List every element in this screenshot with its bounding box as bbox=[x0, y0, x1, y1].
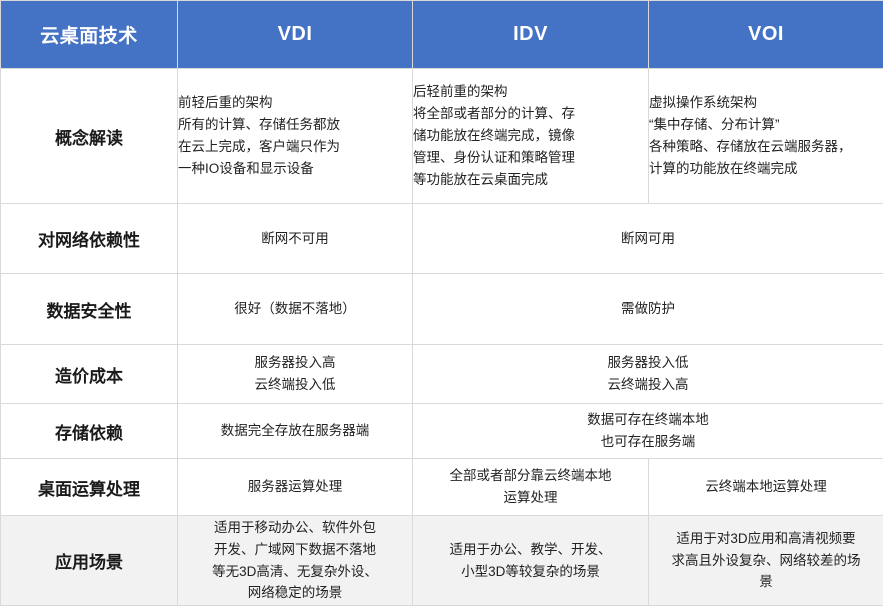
cell-line: 云终端投入高 bbox=[413, 374, 883, 396]
cell-line: “集中存储、分布计算” bbox=[649, 114, 883, 136]
cell-line: 云终端本地运算处理 bbox=[649, 476, 883, 498]
cell-line: 断网可用 bbox=[413, 228, 883, 250]
cell-network-idv-voi-merged: 断网可用 bbox=[413, 204, 883, 274]
cell-compute-vdi: 服务器运算处理 bbox=[178, 459, 413, 516]
cell-line: 云终端投入低 bbox=[178, 374, 412, 396]
cell-network-vdi: 断网不可用 bbox=[178, 204, 413, 274]
row-label-use-cases: 应用场景 bbox=[1, 516, 178, 606]
row-label-concept: 概念解读 bbox=[1, 69, 178, 204]
cell-line: 数据可存在终端本地 bbox=[413, 409, 883, 431]
cell-scenario-idv: 适用于办公、教学、开发、 小型3D等较复杂的场景 bbox=[413, 516, 649, 606]
cell-line: 数据完全存放在服务器端 bbox=[178, 420, 412, 442]
cell-line: 等功能放在云桌面完成 bbox=[413, 169, 648, 191]
cell-compute-voi: 云终端本地运算处理 bbox=[649, 459, 883, 516]
header-row: 云桌面技术 VDI IDV VOI bbox=[1, 1, 883, 69]
cell-line: 小型3D等较复杂的场景 bbox=[413, 561, 648, 583]
table-row: 应用场景 适用于移动办公、软件外包 开发、广域网下数据不落地 等无3D高清、无复… bbox=[1, 516, 883, 606]
cell-line: 很好（数据不落地） bbox=[178, 298, 412, 320]
column-header-idv: IDV bbox=[413, 1, 649, 69]
cell-concept-vdi: 前轻后重的架构 所有的计算、存储任务都放 在云上完成，客户端只作为 一种IO设备… bbox=[178, 69, 413, 204]
row-label-network-dependency: 对网络依赖性 bbox=[1, 204, 178, 274]
cell-cost-idv-voi-merged: 服务器投入低 云终端投入高 bbox=[413, 345, 883, 404]
cell-line: 运算处理 bbox=[413, 487, 648, 509]
cell-line: 求高且外设复杂、网络较差的场 bbox=[649, 550, 883, 572]
cell-line: 服务器投入高 bbox=[178, 352, 412, 374]
cell-line: 后轻前重的架构 bbox=[413, 81, 648, 103]
cell-line: 各种策略、存储放在云端服务器， bbox=[649, 136, 883, 158]
column-header-technology: 云桌面技术 bbox=[1, 1, 178, 69]
cell-scenario-voi: 适用于对3D应用和高清视频要 求高且外设复杂、网络较差的场 景 bbox=[649, 516, 883, 606]
row-label-storage-dependency: 存储依赖 bbox=[1, 404, 178, 459]
cell-line: 断网不可用 bbox=[178, 228, 412, 250]
cell-line: 管理、身份认证和策略管理 bbox=[413, 147, 648, 169]
cell-security-idv-voi-merged: 需做防护 bbox=[413, 274, 883, 345]
column-header-idv-label: IDV bbox=[513, 23, 548, 45]
column-header-technology-label: 云桌面技术 bbox=[40, 26, 138, 47]
cell-scenario-vdi: 适用于移动办公、软件外包 开发、广域网下数据不落地 等无3D高清、无复杂外设、 … bbox=[178, 516, 413, 606]
column-header-voi-label: VOI bbox=[748, 23, 784, 45]
cell-security-vdi: 很好（数据不落地） bbox=[178, 274, 413, 345]
cell-line: 虚拟操作系统架构 bbox=[649, 92, 883, 114]
table-header: 云桌面技术 VDI IDV VOI bbox=[1, 1, 883, 69]
cell-storage-idv-voi-merged: 数据可存在终端本地 也可存在服务端 bbox=[413, 404, 883, 459]
cell-line: 所有的计算、存储任务都放 bbox=[178, 114, 412, 136]
cell-line: 也可存在服务端 bbox=[413, 431, 883, 453]
row-label-desktop-compute: 桌面运算处理 bbox=[1, 459, 178, 516]
cell-line: 适用于办公、教学、开发、 bbox=[413, 539, 648, 561]
cell-line: 计算的功能放在终端完成 bbox=[649, 158, 883, 180]
table-body: 概念解读 前轻后重的架构 所有的计算、存储任务都放 在云上完成，客户端只作为 一… bbox=[1, 69, 883, 606]
cell-line: 等无3D高清、无复杂外设、 bbox=[178, 561, 412, 583]
cell-line: 服务器投入低 bbox=[413, 352, 883, 374]
cell-compute-idv: 全部或者部分靠云终端本地 运算处理 bbox=[413, 459, 649, 516]
column-header-vdi-label: VDI bbox=[278, 23, 313, 45]
cloud-desktop-comparison-table: 云桌面技术 VDI IDV VOI 概念解读 前轻后重的架构 所有的计算、存储任… bbox=[0, 0, 883, 606]
cell-line: 储功能放在终端完成，镜像 bbox=[413, 125, 648, 147]
cell-concept-idv: 后轻前重的架构 将全部或者部分的计算、存 储功能放在终端完成，镜像 管理、身份认… bbox=[413, 69, 649, 204]
table-row: 存储依赖 数据完全存放在服务器端 数据可存在终端本地 也可存在服务端 bbox=[1, 404, 883, 459]
cell-line: 服务器运算处理 bbox=[178, 476, 412, 498]
cell-line: 前轻后重的架构 bbox=[178, 92, 412, 114]
row-label-data-security: 数据安全性 bbox=[1, 274, 178, 345]
cell-cost-vdi: 服务器投入高 云终端投入低 bbox=[178, 345, 413, 404]
table-row: 对网络依赖性 断网不可用 断网可用 bbox=[1, 204, 883, 274]
cell-line: 适用于移动办公、软件外包 bbox=[178, 517, 412, 539]
cell-storage-vdi: 数据完全存放在服务器端 bbox=[178, 404, 413, 459]
cell-line: 在云上完成，客户端只作为 bbox=[178, 136, 412, 158]
table-row: 数据安全性 很好（数据不落地） 需做防护 bbox=[1, 274, 883, 345]
table-row: 桌面运算处理 服务器运算处理 全部或者部分靠云终端本地 运算处理 云终端本地运算… bbox=[1, 459, 883, 516]
cell-line: 一种IO设备和显示设备 bbox=[178, 158, 412, 180]
cell-line: 将全部或者部分的计算、存 bbox=[413, 103, 648, 125]
cell-line: 网络稳定的场景 bbox=[178, 582, 412, 604]
column-header-vdi: VDI bbox=[178, 1, 413, 69]
cell-concept-voi: 虚拟操作系统架构 “集中存储、分布计算” 各种策略、存储放在云端服务器， 计算的… bbox=[649, 69, 883, 204]
cell-line: 全部或者部分靠云终端本地 bbox=[413, 465, 648, 487]
cell-line: 景 bbox=[649, 571, 883, 593]
row-label-cost: 造价成本 bbox=[1, 345, 178, 404]
column-header-voi: VOI bbox=[649, 1, 883, 69]
cell-line: 开发、广域网下数据不落地 bbox=[178, 539, 412, 561]
cell-line: 适用于对3D应用和高清视频要 bbox=[649, 528, 883, 550]
cell-line: 需做防护 bbox=[413, 298, 883, 320]
table-row: 概念解读 前轻后重的架构 所有的计算、存储任务都放 在云上完成，客户端只作为 一… bbox=[1, 69, 883, 204]
table-row: 造价成本 服务器投入高 云终端投入低 服务器投入低 云终端投入高 bbox=[1, 345, 883, 404]
